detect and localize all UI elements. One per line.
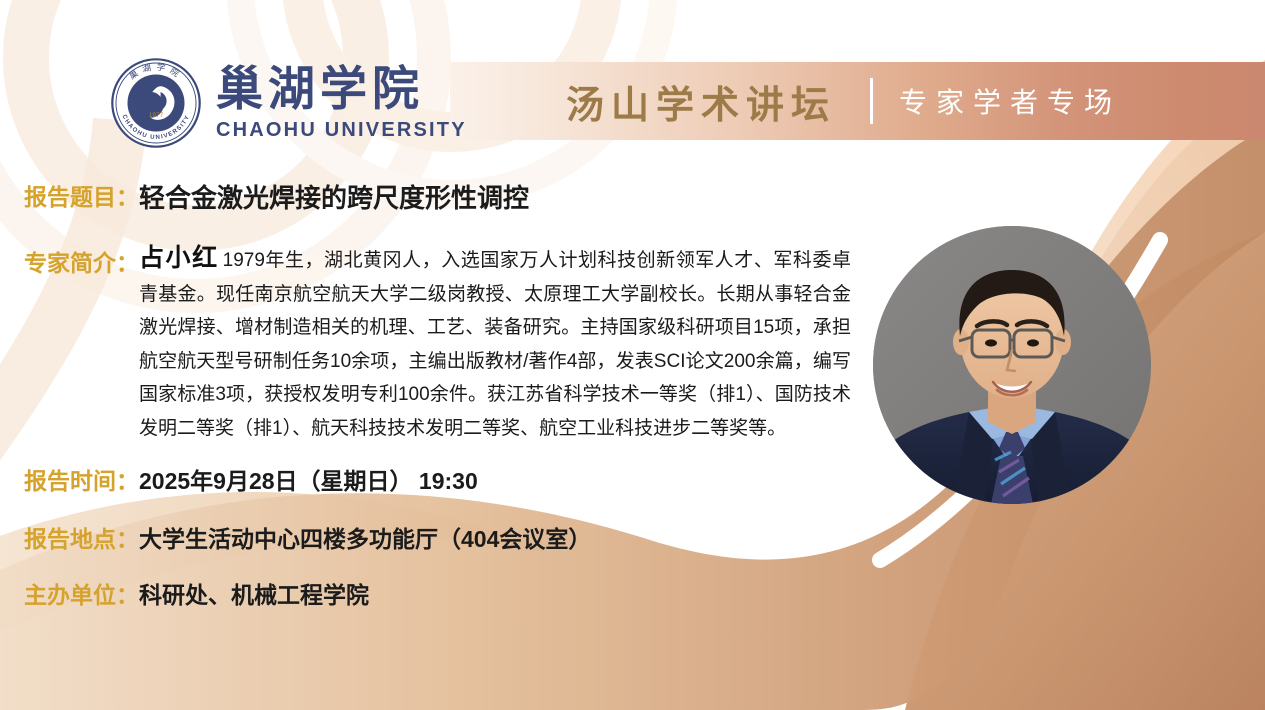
lecture-host-value: 科研处、机械工程学院: [139, 576, 369, 610]
lecture-time-row: 报告时间： 2025年9月28日（星期日） 19:30: [24, 462, 478, 496]
event-banner: 汤山学术讲坛 专家学者专场: [450, 62, 1265, 140]
poster-header: 汤山学术讲坛 专家学者专场 1977 巢湖学院: [0, 0, 1265, 160]
lecture-place-value: 大学生活动中心四楼多功能厅（404会议室）: [139, 520, 591, 554]
lecture-title-row: 报告题目： 轻合金激光焊接的跨尺度形性调控: [24, 178, 529, 215]
speaker-portrait-illustration: [873, 226, 1151, 504]
university-name-cn: 巢湖学院: [216, 66, 467, 113]
lecture-host-row: 主办单位： 科研处、机械工程学院: [24, 576, 369, 610]
speaker-name: 占小红: [139, 244, 219, 272]
lecture-time-label: 报告时间：: [24, 462, 139, 496]
university-logo: 1977 巢湖学院 CHAOHU UNIVERSITY 巢湖学院 CHAOHU …: [110, 57, 467, 149]
lecture-title-value: 轻合金激光焊接的跨尺度形性调控: [139, 178, 529, 215]
banner-divider: [870, 78, 873, 124]
lecture-poster: 汤山学术讲坛 专家学者专场 1977 巢湖学院: [0, 0, 1265, 710]
lecture-host-label: 主办单位：: [24, 576, 139, 610]
lecture-place-row: 报告地点： 大学生活动中心四楼多功能厅（404会议室）: [24, 520, 591, 554]
speaker-bio-row: 专家简介： 占小红1979年生，湖北黄冈人，入选国家万人计划科技创新领军人才、军…: [24, 242, 884, 445]
university-name-en: CHAOHU UNIVERSITY: [216, 120, 467, 140]
banner-subtitle: 专家学者专场: [899, 81, 1121, 121]
speaker-bio-body: 占小红1979年生，湖北黄冈人，入选国家万人计划科技创新领军人才、军科委卓青基金…: [139, 242, 851, 445]
university-name-block: 巢湖学院 CHAOHU UNIVERSITY: [216, 66, 467, 140]
speaker-bio-label: 专家简介：: [24, 242, 139, 278]
chaohu-university-seal-icon: 1977 巢湖学院 CHAOHU UNIVERSITY: [110, 57, 202, 149]
speaker-portrait: [873, 226, 1151, 504]
lecture-time-value: 2025年9月28日（星期日） 19:30: [139, 462, 478, 496]
lecture-title-label: 报告题目：: [24, 178, 139, 212]
lecture-place-label: 报告地点：: [24, 520, 139, 554]
svg-text:1977: 1977: [149, 112, 164, 119]
speaker-bio-text: 1979年生，湖北黄冈人，入选国家万人计划科技创新领军人才、军科委卓青基金。现任…: [139, 250, 851, 439]
banner-title: 汤山学术讲坛: [566, 74, 836, 129]
